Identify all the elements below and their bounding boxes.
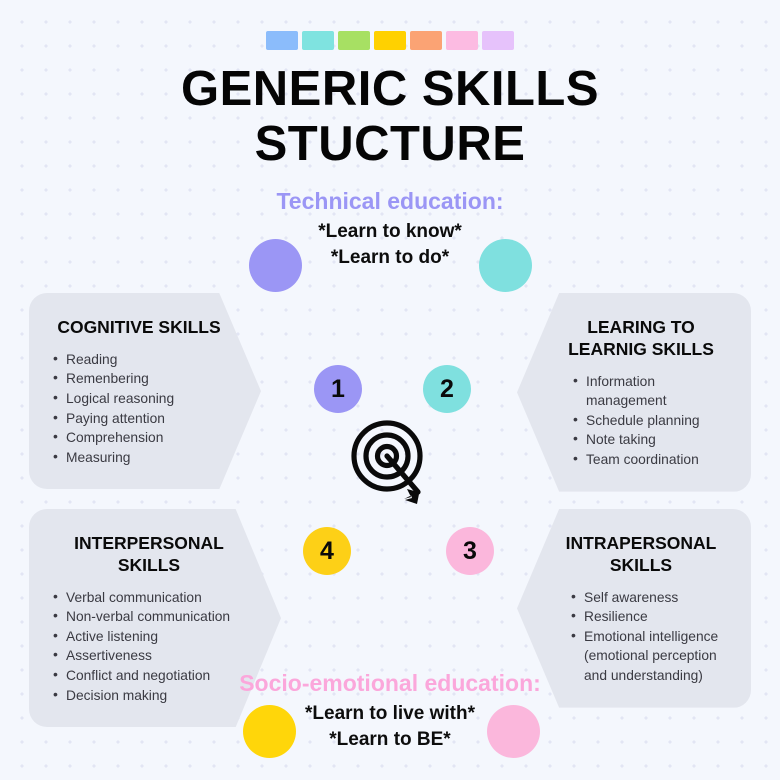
technical-education-subtext: *Learn to know* *Learn to do* xyxy=(0,219,780,270)
list-item: Active listening xyxy=(51,627,259,647)
panel-intrapersonal-title-line1: INTRAPERSONAL xyxy=(553,533,729,555)
list-item: Paying attention xyxy=(51,409,239,429)
step-number-2: 2 xyxy=(423,365,471,413)
list-item: Verbal communication xyxy=(51,588,259,608)
list-item: Self awareness xyxy=(569,588,729,608)
socio-sub-line2: *Learn to BE* xyxy=(0,727,780,753)
page-title-line1: GENERIC SKILLS xyxy=(181,62,599,116)
list-item: Assertiveness xyxy=(51,646,259,666)
list-item: Measuring xyxy=(51,448,239,468)
list-item: Team coordination xyxy=(571,450,729,470)
list-item: Resilience xyxy=(569,607,729,627)
panel-learning-to-learn-skills: LEARING TO LEARNIG SKILLS Information ma… xyxy=(517,293,751,492)
list-item: Remenbering xyxy=(51,369,239,389)
panel-learning-title-line2: LEARNIG SKILLS xyxy=(553,339,729,361)
target-arrow-icon xyxy=(345,418,437,510)
step-number-3: 3 xyxy=(446,527,494,575)
swatch-green xyxy=(338,31,370,50)
step-number-1-label: 1 xyxy=(331,375,345,404)
swatch-pink xyxy=(446,31,478,50)
page-title-line2: STUCTURE xyxy=(0,117,780,172)
color-swatch-bar xyxy=(0,31,780,50)
panel-intrapersonal-title: INTRAPERSONAL SKILLS xyxy=(539,533,729,577)
step-number-2-label: 2 xyxy=(440,375,454,404)
step-number-3-label: 3 xyxy=(463,537,477,566)
panel-cognitive-skills: COGNITIVE SKILLS Reading Remenbering Log… xyxy=(29,293,261,489)
infographic-canvas: GENERIC SKILLS STUCTURE Technical educat… xyxy=(0,0,780,780)
list-item: Reading xyxy=(51,350,239,370)
panel-intrapersonal-title-line2: SKILLS xyxy=(553,555,729,577)
panel-learning-title-line1: LEARING TO xyxy=(553,317,729,339)
step-number-4: 4 xyxy=(303,527,351,575)
list-item: Information management xyxy=(571,372,729,411)
panel-interpersonal-title: INTERPERSONAL SKILLS xyxy=(51,533,259,577)
panel-interpersonal-title-line1: INTERPERSONAL xyxy=(51,533,247,555)
swatch-lavender xyxy=(482,31,514,50)
panel-learning-title: LEARING TO LEARNIG SKILLS xyxy=(539,317,729,361)
list-item: Comprehension xyxy=(51,428,239,448)
list-item-continuation: (emotional perception xyxy=(569,646,729,666)
panel-cognitive-title: COGNITIVE SKILLS xyxy=(51,317,239,339)
list-item: Logical reasoning xyxy=(51,389,239,409)
list-item: Non-verbal communication xyxy=(51,607,259,627)
swatch-orange xyxy=(410,31,442,50)
socio-emotional-subtext: *Learn to live with* *Learn to BE* xyxy=(0,701,780,752)
socio-emotional-education-heading: Socio-emotional education: xyxy=(0,670,780,697)
list-item: Note taking xyxy=(571,430,729,450)
panel-cognitive-list: Reading Remenbering Logical reasoning Pa… xyxy=(51,350,239,467)
page-title: GENERIC SKILLS STUCTURE xyxy=(0,62,780,172)
swatch-blue xyxy=(266,31,298,50)
panel-interpersonal-title-line2: SKILLS xyxy=(51,555,247,577)
socio-sub-line1: *Learn to live with* xyxy=(0,701,780,727)
swatch-turquoise xyxy=(302,31,334,50)
step-number-1: 1 xyxy=(314,365,362,413)
list-item: Emotional intelligence xyxy=(569,627,729,647)
panel-learning-list: Information management Schedule planning… xyxy=(539,372,729,470)
technical-sub-line1: *Learn to know* xyxy=(0,219,780,245)
technical-education-heading: Technical education: xyxy=(0,188,780,215)
technical-sub-line2: *Learn to do* xyxy=(0,245,780,271)
list-item: Schedule planning xyxy=(571,411,729,431)
step-number-4-label: 4 xyxy=(320,537,334,566)
swatch-yellow xyxy=(374,31,406,50)
